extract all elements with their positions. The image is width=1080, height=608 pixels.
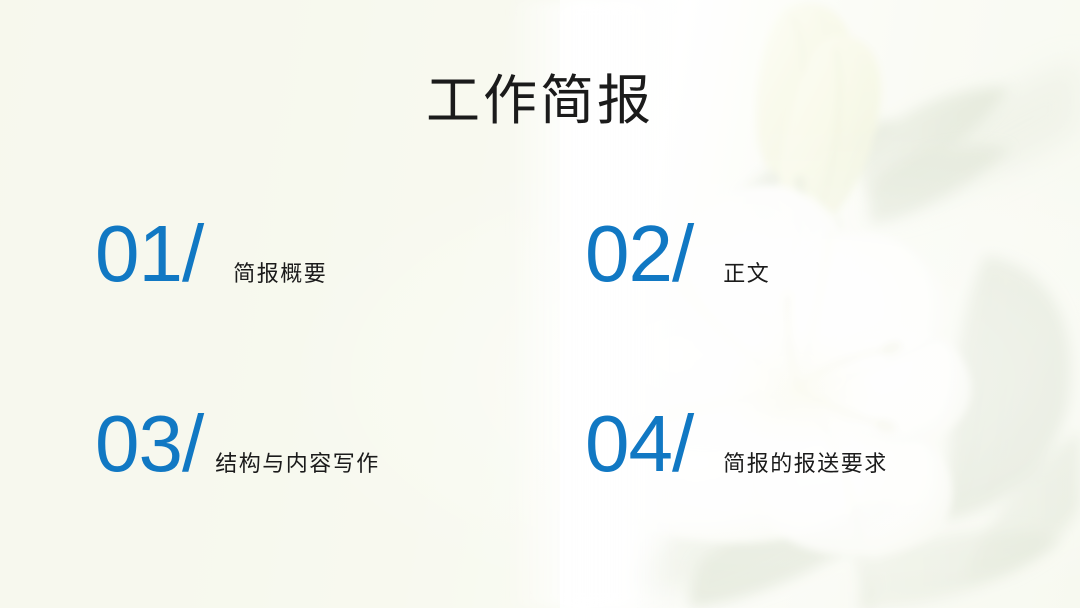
agenda-number-03: 03/ [95, 404, 203, 484]
agenda-list: 01/ 简报概要 02/ 正文 03/ 结构与内容写作 04/ 简报的报送要求 [0, 214, 1080, 544]
agenda-number-01: 01/ [95, 214, 203, 294]
agenda-item-04[interactable]: 04/ 简报的报送要求 [585, 404, 1075, 554]
page-title: 工作简报 [0, 72, 1080, 130]
agenda-number-04: 04/ [585, 404, 693, 484]
agenda-label-02: 正文 [723, 263, 770, 285]
agenda-item-03[interactable]: 03/ 结构与内容写作 [95, 404, 585, 554]
slide: 工作简报 01/ 简报概要 02/ 正文 03/ 结构与内容写作 04/ 简报的… [0, 0, 1080, 608]
bud-leaf [870, 146, 1010, 224]
agenda-label-03: 结构与内容写作 [215, 453, 380, 475]
agenda-label-04: 简报的报送要求 [723, 453, 888, 475]
agenda-item-01[interactable]: 01/ 简报概要 [95, 214, 585, 404]
agenda-label-01: 简报概要 [233, 263, 327, 285]
agenda-number-02: 02/ [585, 214, 693, 294]
agenda-item-02[interactable]: 02/ 正文 [585, 214, 1075, 404]
